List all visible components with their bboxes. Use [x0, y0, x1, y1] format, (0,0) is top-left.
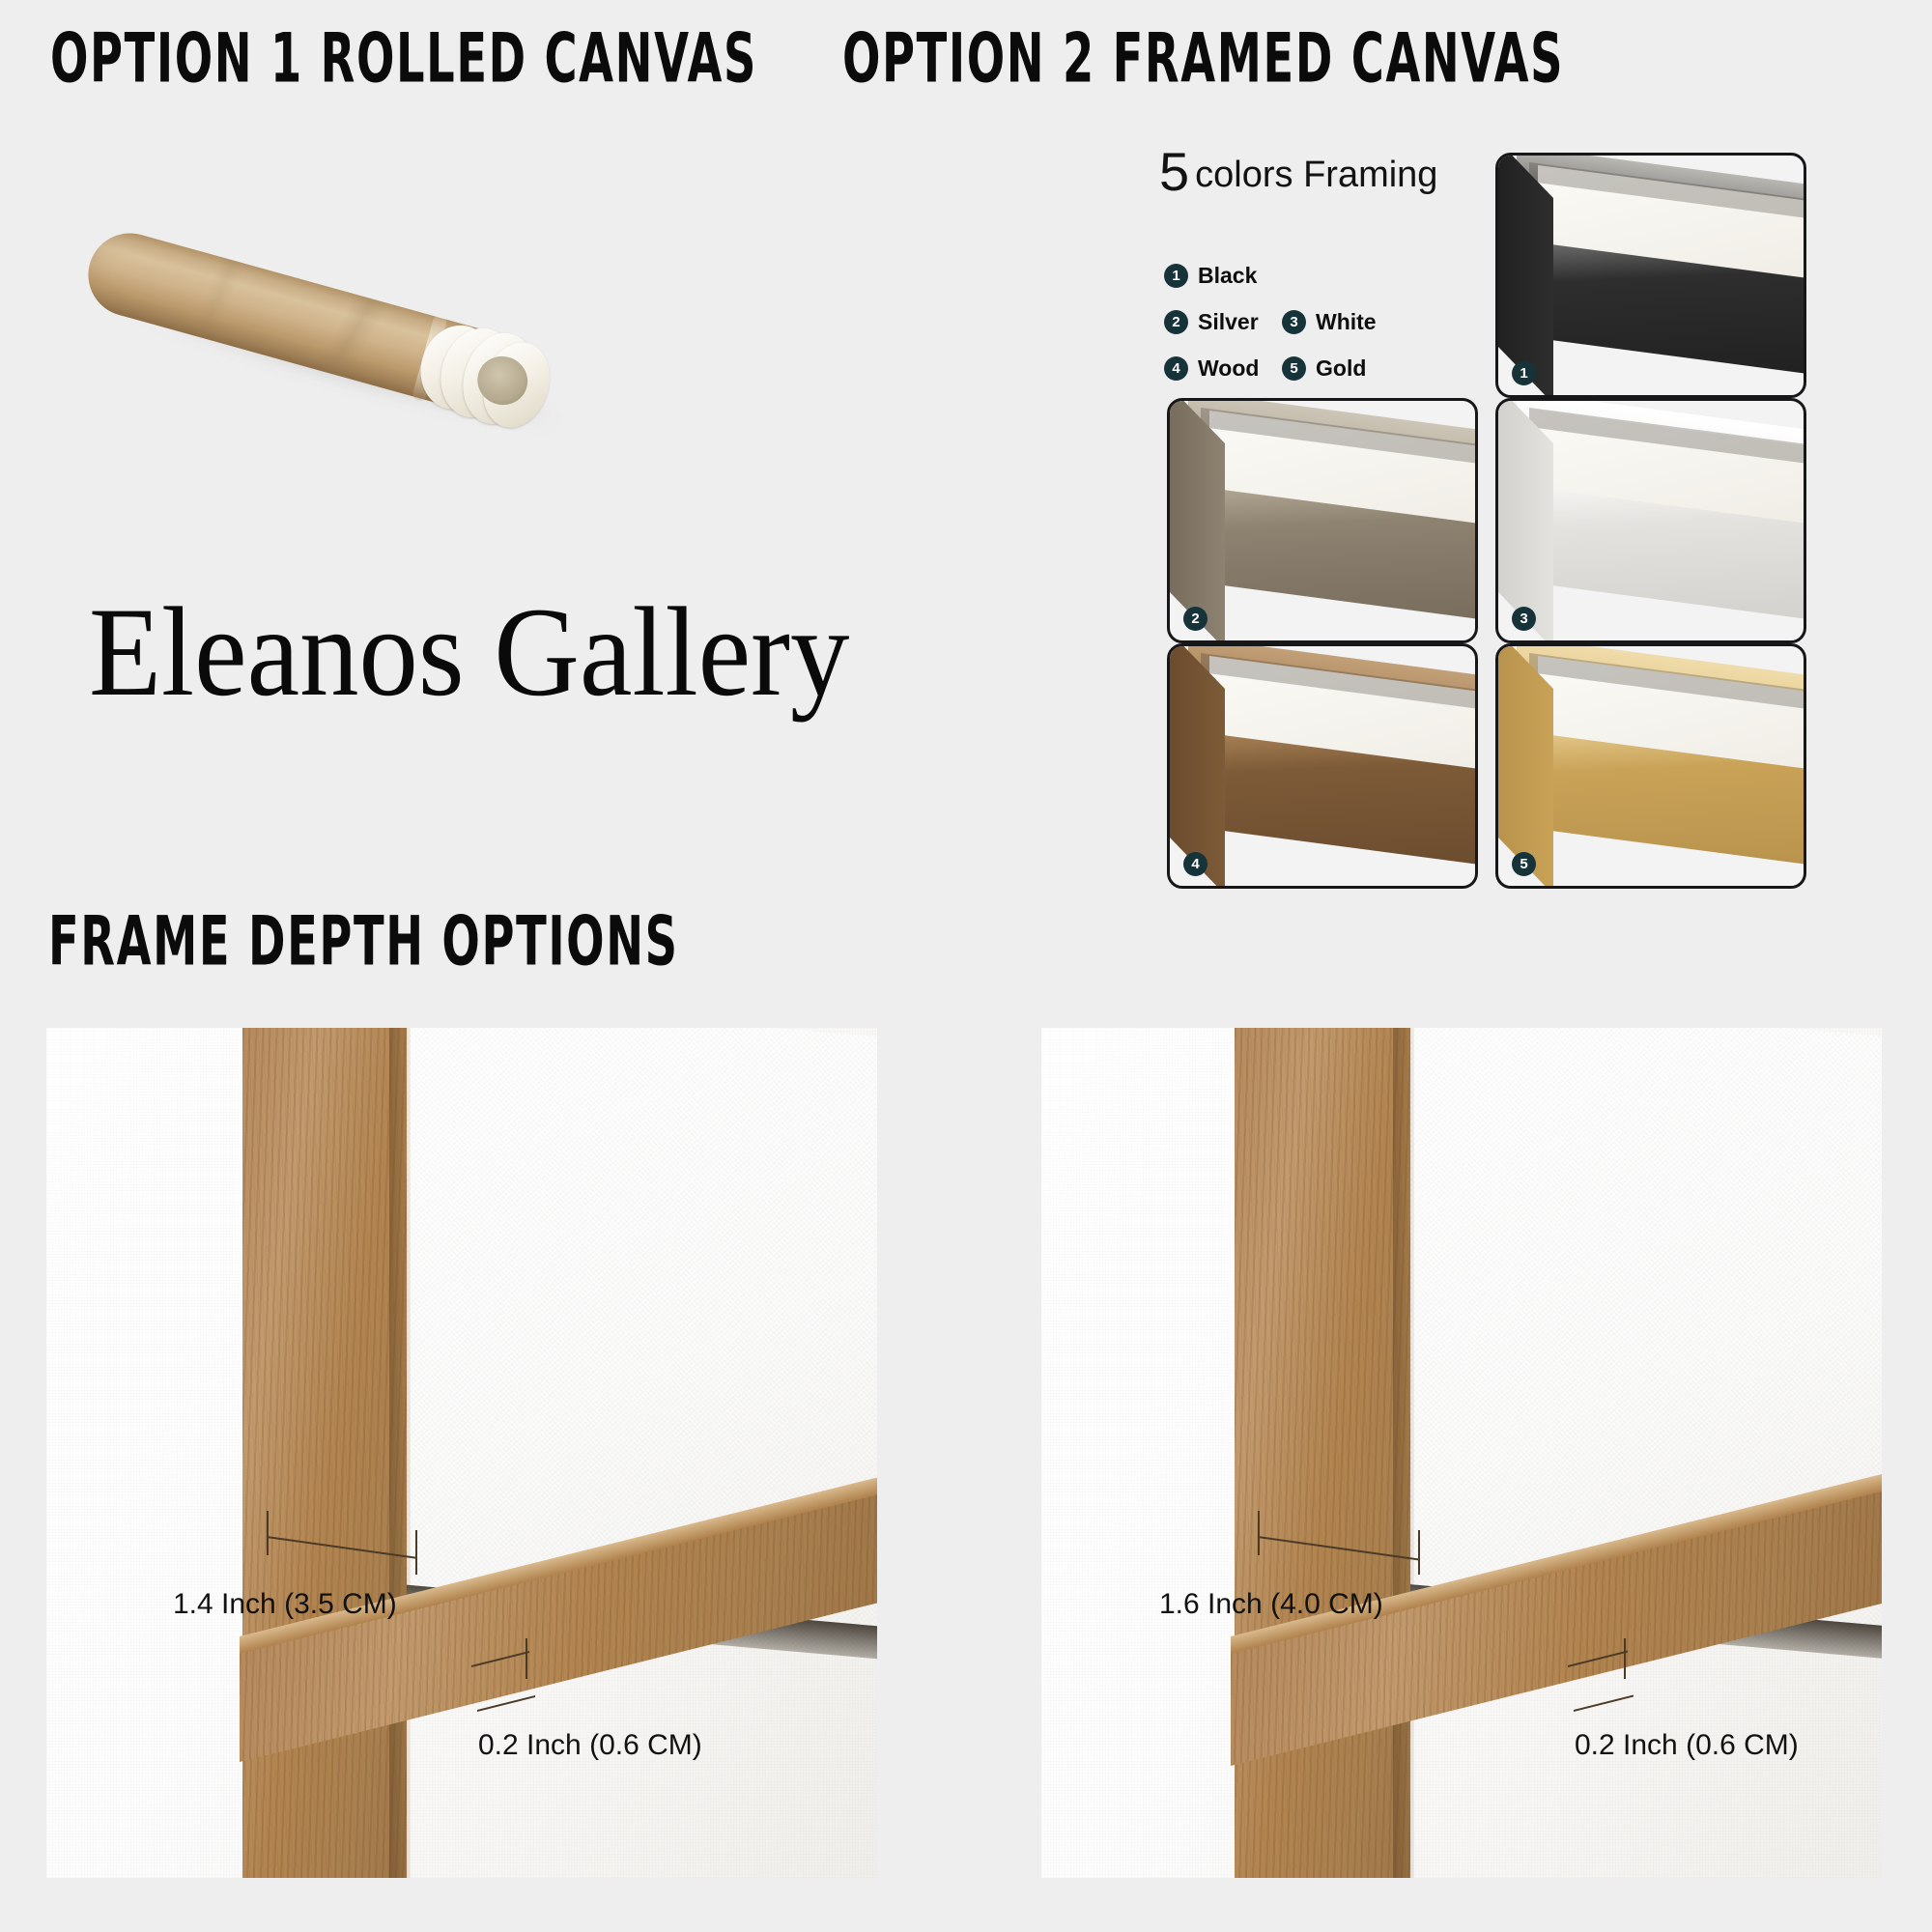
swatch-badge-1: 1: [1512, 361, 1536, 385]
dimension-label-width-right: 1.6 Inch (4.0 CM): [1159, 1588, 1383, 1621]
legend-label-gold: Gold: [1316, 355, 1366, 382]
dimension-tick-right: [415, 1530, 417, 1575]
frame-swatch-black[interactable]: 1: [1495, 153, 1806, 398]
frame-corner-illustration-gold: [1498, 646, 1804, 886]
dimension-label-thickness-right: 0.2 Inch (0.6 CM): [1575, 1729, 1799, 1762]
badge-number-5: 5: [1282, 356, 1306, 381]
brand-logo: Eleanos Gallery: [89, 578, 849, 725]
frame-rail-vertical-edge: [1393, 1028, 1414, 1878]
legend-label-black: Black: [1198, 263, 1257, 289]
legend-item-black: 1 Black: [1164, 263, 1282, 289]
framing-title-text: colors Framing: [1195, 155, 1437, 195]
legend-label-wood: Wood: [1198, 355, 1259, 382]
swatch-badge-4: 4: [1183, 852, 1207, 876]
framing-color-count: 5: [1159, 141, 1189, 202]
dimension-tick-left: [1258, 1511, 1260, 1555]
badge-number-3: 3: [1282, 310, 1306, 334]
rolled-canvas-roll: [406, 308, 574, 447]
framing-colors-title: 5colors Framing: [1159, 145, 1437, 199]
legend-row: 2 Silver 3 White: [1164, 309, 1483, 335]
frame-swatch-gold[interactable]: 5: [1495, 643, 1806, 889]
dimension-tick-thickness: [526, 1638, 527, 1679]
swatch-badge-3: 3: [1512, 607, 1536, 631]
rolled-canvas-illustration: [72, 145, 613, 435]
frame-depth-photo-left: 1.4 Inch (3.5 CM) 0.2 Inch (0.6 CM): [46, 1028, 877, 1878]
dimension-tick-thickness: [1624, 1638, 1626, 1679]
frame-corner-illustration-wood: [1170, 646, 1475, 886]
swatch-badge-2: 2: [1183, 607, 1207, 631]
swatch-badge-5: 5: [1512, 852, 1536, 876]
heading-frame-depth-options: FRAME DEPTH OPTIONS: [48, 901, 679, 981]
frame-corner-illustration-black: [1498, 156, 1804, 395]
frame-corner-illustration-white: [1498, 401, 1804, 640]
legend-label-silver: Silver: [1198, 309, 1259, 335]
heading-option-2-framed-canvas: OPTION 2 FRAMED CANVAS: [842, 18, 1564, 99]
infographic-canvas: OPTION 1 ROLLED CANVAS Eleanos Gallery O…: [0, 0, 1932, 1932]
legend-item-gold: 5 Gold: [1282, 355, 1400, 382]
frame-rail-vertical-edge: [389, 1028, 411, 1878]
legend-item-wood: 4 Wood: [1164, 355, 1282, 382]
legend-item-white: 3 White: [1282, 309, 1400, 335]
frame-swatch-wood[interactable]: 4: [1167, 643, 1478, 889]
framing-color-legend: 1 Black 2 Silver 3 White 4 Wood 5 Gold: [1164, 263, 1483, 402]
legend-label-white: White: [1316, 309, 1377, 335]
legend-row: 1 Black: [1164, 263, 1483, 289]
dimension-label-thickness-left: 0.2 Inch (0.6 CM): [478, 1729, 702, 1762]
frame-swatch-white[interactable]: 3: [1495, 398, 1806, 643]
badge-number-2: 2: [1164, 310, 1188, 334]
dimension-label-width-left: 1.4 Inch (3.5 CM): [173, 1588, 397, 1621]
dimension-tick-left: [267, 1511, 269, 1555]
frame-depth-photo-right: 1.6 Inch (4.0 CM) 0.2 Inch (0.6 CM): [1041, 1028, 1882, 1878]
heading-option-1-rolled-canvas: OPTION 1 ROLLED CANVAS: [50, 18, 757, 99]
frame-corner-illustration-silver: [1170, 401, 1475, 640]
badge-number-4: 4: [1164, 356, 1188, 381]
badge-number-1: 1: [1164, 264, 1188, 288]
legend-row: 4 Wood 5 Gold: [1164, 355, 1483, 382]
legend-item-silver: 2 Silver: [1164, 309, 1282, 335]
frame-swatch-silver[interactable]: 2: [1167, 398, 1478, 643]
mailing-tube: [79, 224, 493, 412]
dimension-tick-right: [1418, 1530, 1420, 1575]
